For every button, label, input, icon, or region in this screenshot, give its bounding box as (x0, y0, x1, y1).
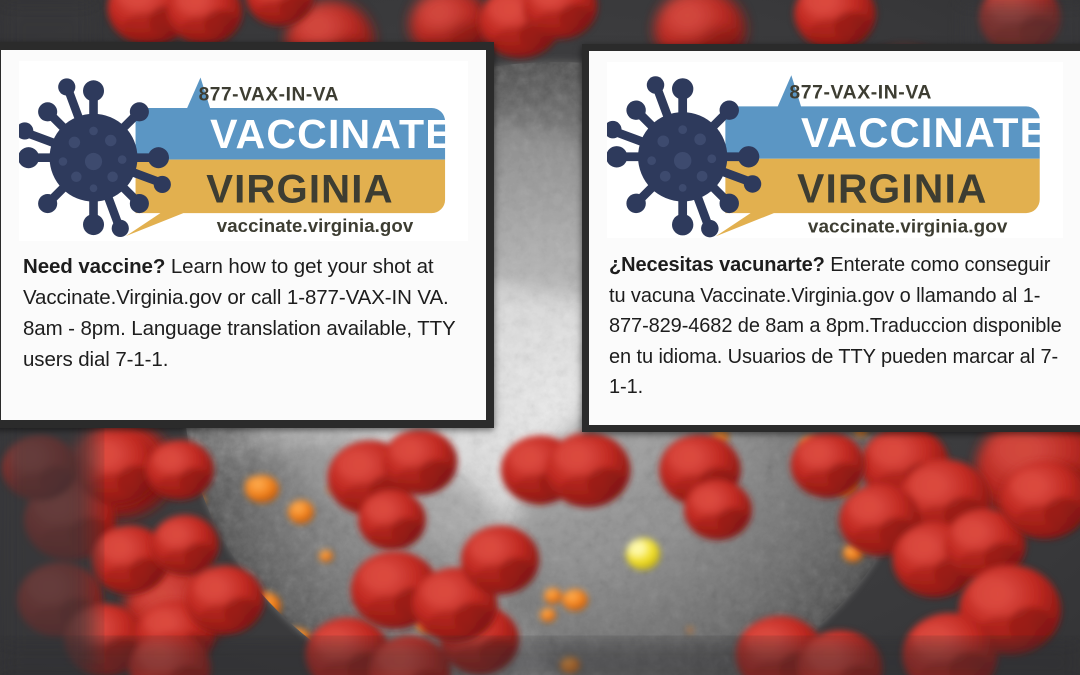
logo-url: vaccinate.virginia.gov (808, 216, 1008, 237)
coronavirus-icon (19, 78, 171, 237)
vaccinate-virginia-card-english: 877-VAX-IN-VA VACCINATE VIRGINIA vaccina… (0, 42, 494, 428)
logo-line2: VIRGINIA (797, 165, 987, 211)
card-body: 877-VAX-IN-VA VACCINATE VIRGINIA vaccina… (1, 50, 486, 420)
card-copy-lead: Need vaccine? (23, 255, 165, 278)
vaccinate-virginia-logo-english: 877-VAX-IN-VA VACCINATE VIRGINIA vaccina… (19, 61, 468, 241)
card-copy-spanish: ¿Necesitas vacunarte? Enterate como cons… (603, 242, 1067, 403)
logo-line1: VACCINATE (801, 109, 1049, 156)
logo-url: vaccinate.virginia.gov (217, 215, 414, 236)
card-copy-english: Need vaccine? Learn how to get your shot… (15, 245, 472, 375)
vaccinate-virginia-logo-spanish: 877-VAX-IN-VA VACCINATE VIRGINIA vaccina… (607, 62, 1063, 238)
card-copy-lead: ¿Necesitas vacunarte? (609, 254, 825, 276)
coronavirus-icon (607, 76, 761, 237)
vaccinate-virginia-card-spanish: 877-VAX-IN-VA VACCINATE VIRGINIA vaccina… (582, 44, 1080, 432)
logo-phone: 877-VAX-IN-VA (199, 84, 339, 105)
logo-line2: VIRGINIA (206, 167, 393, 212)
card-body: 877-VAX-IN-VA VACCINATE VIRGINIA vaccina… (589, 51, 1080, 425)
logo-line1: VACCINATE (210, 111, 454, 157)
logo-phone: 877-VAX-IN-VA (789, 82, 932, 104)
